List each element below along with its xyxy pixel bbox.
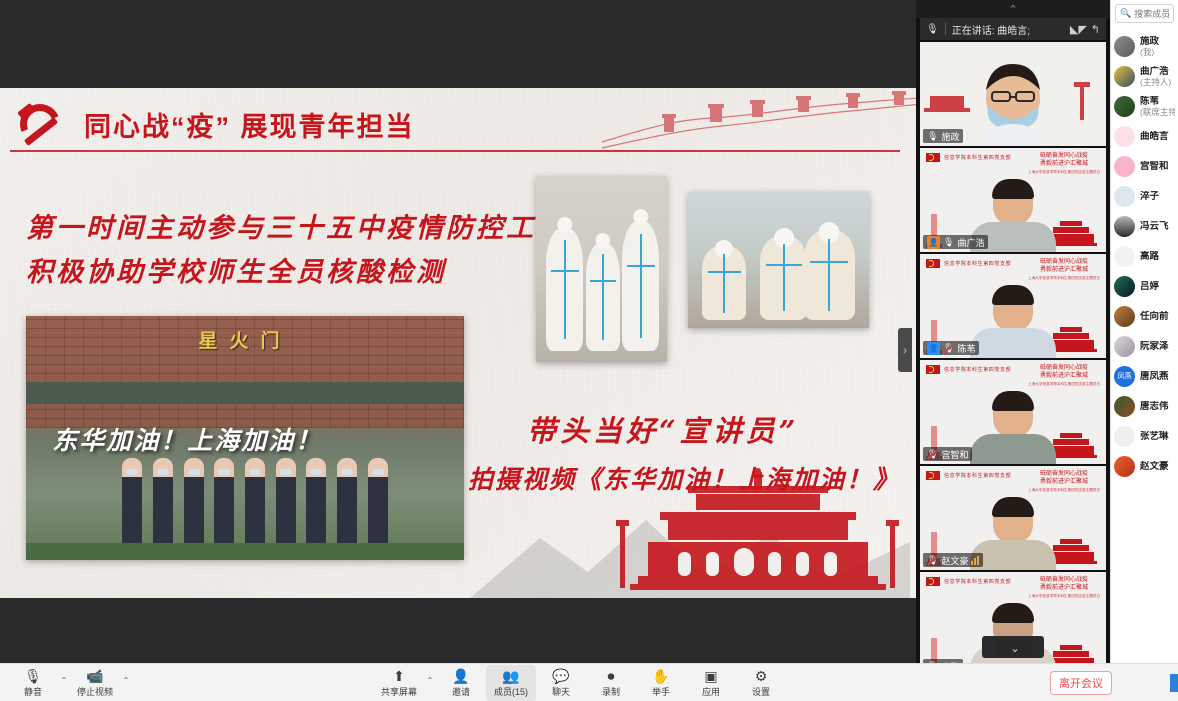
participant-name: 任向前 [1140, 311, 1169, 322]
tile-label: 👤 🎙 陈苇 [923, 341, 979, 355]
virtual-bg-slogan: 砥砺奋发同心战疫 勇毅前进沪汇聚城 上海大学信息学院本科生第四党支部主题党日 [1028, 364, 1100, 388]
raise-hand-label: 举手 [652, 685, 670, 698]
people-icon: 👥 [502, 668, 519, 684]
search-icon: 🔍 [1120, 8, 1131, 19]
chat-button[interactable]: 💬 聊天 [536, 665, 586, 701]
avatar [1114, 96, 1135, 117]
list-item[interactable]: 宫智和 [1111, 151, 1178, 181]
participant-role: (我) [1140, 47, 1159, 57]
avatar [1114, 396, 1135, 417]
party-flag-icon [925, 576, 941, 590]
avatar [1114, 246, 1135, 267]
search-input[interactable] [1134, 9, 1169, 19]
avatar [1114, 456, 1135, 477]
participant-role: (联席主持人) [1140, 107, 1175, 117]
participant-name: 高路 [1140, 251, 1159, 262]
window-accent-bar [1170, 674, 1178, 692]
leave-meeting-button[interactable]: 离开会议 [1050, 671, 1112, 695]
virtual-bg-banner: 信息学院本科生第四党支部 [944, 366, 1011, 373]
list-item[interactable]: 阮家泽 [1111, 331, 1178, 361]
microphone-muted-icon: 🎙 [927, 449, 938, 460]
invite-label: 邀请 [452, 685, 470, 698]
list-item[interactable]: 唐志伟 [1111, 391, 1178, 421]
video-tile[interactable]: 信息学院本科生第四党支部 砥砺奋发同心战疫 勇毅前进沪汇聚城 上海大学信息学院本… [920, 254, 1106, 358]
participants-label: 成员(15) [494, 685, 528, 698]
participant-name: 施政 [941, 130, 959, 143]
slide-line-2: 积极协助学校师生全员核酸检测 [26, 250, 446, 289]
slide-line-1: 第一时间主动参与三十五中疫情防控工作 [26, 206, 566, 245]
party-flag-icon [925, 470, 941, 484]
record-button[interactable]: ⏺ 录制 [586, 665, 636, 701]
gear-icon: ⚙ [755, 668, 768, 684]
virtual-bg-slogan: 砥砺奋发同心战疫 勇毅前进沪汇聚城 上海大学信息学院本科生第四党支部主题党日 [1028, 258, 1100, 282]
apps-label: 应用 [702, 685, 720, 698]
virtual-bg-banner: 信息学院本科生第四党支部 [944, 472, 1011, 479]
avatar [1114, 186, 1135, 207]
meeting-window: 同心战“疫” 展现青年担当 第一时间主动参与三十五中疫情防控工作 积极协助学校师… [0, 0, 1178, 701]
participant-silhouette [970, 393, 1056, 464]
share-screen-icon: ⬆ [393, 668, 405, 684]
settings-label: 设置 [752, 685, 770, 698]
participant-name: 宫智和 [941, 448, 968, 461]
participant-silhouette [970, 287, 1056, 358]
photo-ppe-indoor [536, 176, 667, 362]
list-item[interactable]: 冯云飞 [1111, 211, 1178, 241]
chat-bubble-icon: 💬 [552, 668, 569, 684]
list-item[interactable]: 吕婷 [1111, 271, 1178, 301]
participant-name: 曲广浩 [1140, 66, 1171, 77]
video-tile[interactable]: 信息学院本科生第四党支部 砥砺奋发同心战疫 勇毅前进沪汇聚城 上海大学信息学院本… [920, 148, 1106, 252]
microphone-icon: 🎙 [24, 668, 42, 684]
participant-name: 唐凤燕 [1140, 371, 1169, 382]
avatar [1114, 36, 1135, 57]
tile-label: 🎙 宫智和 [923, 447, 972, 461]
participant-name: 唐志伟 [1140, 401, 1169, 412]
invite-button[interactable]: 👤 邀请 [436, 665, 486, 701]
record-circle-icon: ⏺ [608, 668, 615, 684]
chat-label: 聊天 [552, 685, 570, 698]
raised-hand-icon: ✋ [652, 668, 669, 684]
slide-title-row: 同心战“疫” 展现青年担当 [18, 102, 415, 146]
audio-options-caret[interactable]: ⌃ [58, 665, 70, 701]
group-people [26, 458, 464, 546]
participants-panel[interactable]: 🔍 施政 (我) 曲广浩 (主持人) [1110, 0, 1178, 663]
record-label: 录制 [602, 685, 620, 698]
shared-screen-stage[interactable]: 同心战“疫” 展现青年担当 第一时间主动参与三十五中疫情防控工作 积极协助学校师… [0, 0, 916, 663]
active-speaker-text: 正在讲话: 曲皓言; [952, 22, 1030, 37]
list-item[interactable]: 任向前 [1111, 301, 1178, 331]
participant-name: 淬子 [1140, 191, 1159, 202]
participant-name: 阮家泽 [1140, 341, 1169, 352]
video-tile[interactable]: 🎙 施政 [920, 42, 1106, 146]
minimize-icon[interactable]: ◣◤ [1070, 23, 1087, 36]
share-screen-button[interactable]: ⬆ 共享屏幕 [374, 665, 424, 701]
slide-line-3: 带头当好“宣讲员” [527, 408, 799, 450]
list-item[interactable]: 赵文豪 [1111, 451, 1178, 481]
apps-grid-icon: ▣ [704, 668, 717, 684]
list-item[interactable]: 曲皓言 [1111, 121, 1178, 151]
filmstrip-window-controls[interactable]: ◣◤ ↰ [1070, 23, 1100, 36]
participant-name: 宫智和 [1140, 161, 1169, 172]
tile-label: 🎙 赵文豪 [923, 553, 983, 567]
avatar: 凤燕 [1114, 366, 1135, 387]
avatar [1114, 426, 1135, 447]
filmstrip-drag-handle[interactable]: ⌃ [916, 0, 1110, 18]
video-tile[interactable]: 信息学院本科生第四党支部 砥砺奋发同心战疫 勇毅前进沪汇聚城 上海大学信息学院本… [920, 466, 1106, 570]
host-badge: 👤 [927, 236, 940, 249]
avatar [1114, 156, 1135, 177]
microphone-icon: 🎙 [943, 237, 954, 248]
photo-group-at-gate: 星火门 东华加油！上海加油！ [26, 316, 464, 560]
participant-list[interactable]: 施政 (我) 曲广浩 (主持人) 陈苇 (联席主持人) [1111, 27, 1178, 481]
video-camera-icon: 📹 [86, 668, 103, 684]
tile-label: 👤 🎙 曲广浩 [923, 235, 988, 249]
virtual-bg-slogan: 砥砺奋发同心战疫 勇毅前进沪汇聚城 上海大学信息学院本科生第四党支部主题党日 [1028, 152, 1100, 176]
virtual-bg-banner: 信息学院本科生第四党支部 [944, 578, 1011, 585]
list-item[interactable]: 陈苇 (联席主持人) [1111, 91, 1178, 121]
microphone-icon: 🎙 [926, 24, 939, 35]
virtual-bg-slogan: 砥砺奋发同心战疫 勇毅前进沪汇聚城 上海大学信息学院本科生第四党支部主题党日 [1028, 576, 1100, 600]
photo-ppe-outdoor [688, 192, 869, 328]
toolbar-left-group[interactable]: 🎙 静音 ⌃ 📹 停止视频 ⌃ [8, 664, 132, 701]
person-plus-icon: 👤 [452, 668, 469, 684]
list-item[interactable]: 凤燕 唐凤燕 [1111, 361, 1178, 391]
participant-name: 曲皓言 [1140, 131, 1169, 142]
participant-name: 赵文豪 [1140, 461, 1169, 472]
scroll-down-button[interactable]: ⌄ [997, 640, 1033, 656]
participant-role: (主持人) [1140, 77, 1171, 87]
avatar [1114, 276, 1135, 297]
party-flag-icon [925, 258, 941, 272]
meeting-toolbar[interactable]: 🎙 静音 ⌃ 📹 停止视频 ⌃ ⬆ 共享屏幕 ⌃ 👤 邀请 👥 成员(1 [0, 663, 1178, 701]
virtual-bg-slogan: 砥砺奋发同心战疫 勇毅前进沪汇聚城 上海大学信息学院本科生第四党支部主题党日 [1028, 470, 1100, 494]
collapse-filmstrip-handle[interactable]: › [898, 328, 912, 372]
tiananmen-decoration [608, 468, 908, 598]
video-tile[interactable]: 信息学院本科生第四党支部 砥砺奋发同心战疫 勇毅前进沪汇聚城 上海大学信息学院本… [920, 360, 1106, 464]
share-options-caret[interactable]: ⌃ [424, 665, 436, 701]
audio-level-bars [971, 556, 979, 565]
party-flag-icon [925, 364, 941, 378]
avatar [1114, 336, 1135, 357]
participant-name: 陈苇 [1140, 96, 1175, 107]
list-item[interactable]: 施政 (我) [1111, 31, 1178, 61]
mute-label: 静音 [24, 685, 42, 698]
toolbar-center-group[interactable]: ⬆ 共享屏幕 ⌃ 👤 邀请 👥 成员(15) 💬 聊天 ⏺ 录制 ✋ [374, 664, 786, 701]
stop-video-label: 停止视频 [77, 685, 113, 698]
party-flag-icon [925, 152, 941, 166]
video-filmstrip[interactable]: ⌃ 🎙 正在讲话: 曲皓言; ◣◤ ↰ [916, 0, 1110, 663]
tile-label: 🎙 施政 [923, 129, 963, 143]
avatar [1114, 126, 1135, 147]
mute-button[interactable]: 🎙 静音 [8, 665, 58, 701]
presentation-slide[interactable]: 同心战“疫” 展现青年担当 第一时间主动参与三十五中疫情防控工作 积极协助学校师… [0, 88, 916, 598]
stop-video-button[interactable]: 📹 停止视频 [70, 665, 120, 701]
microphone-icon: 🎙 [927, 131, 938, 142]
list-item[interactable]: 淬子 [1111, 181, 1178, 211]
share-screen-label: 共享屏幕 [381, 685, 417, 698]
list-item[interactable]: 曲广浩 (主持人) [1111, 61, 1178, 91]
active-speaker-bar: 🎙 正在讲话: 曲皓言; ◣◤ ↰ [920, 18, 1106, 40]
list-item[interactable]: 张艺琳 [1111, 421, 1178, 451]
microphone-muted-icon: 🎙 [927, 555, 938, 566]
cpc-emblem-icon [18, 102, 66, 146]
avatar [1114, 216, 1135, 237]
settings-button[interactable]: ⚙ 设置 [736, 665, 786, 701]
raise-hand-button[interactable]: ✋ 举手 [636, 665, 686, 701]
virtual-bg-banner: 信息学院本科生第四党支部 [944, 260, 1011, 267]
participant-name: 张艺琳 [1140, 431, 1169, 442]
title-divider [10, 150, 900, 152]
list-item[interactable]: 高路 [1111, 241, 1178, 271]
video-options-caret[interactable]: ⌃ [120, 665, 132, 701]
great-wall-decoration [602, 90, 916, 154]
search-wrap: 🔍 [1111, 0, 1178, 27]
avatar [1114, 306, 1135, 327]
gate-sign-text: 星火门 [198, 326, 291, 353]
divider [945, 23, 946, 35]
virtual-bg-banner: 信息学院本科生第四党支部 [944, 154, 1011, 161]
participant-name: 陈苇 [957, 342, 975, 355]
slide-title: 同心战“疫” 展现青年担当 [84, 105, 415, 144]
photo-overlay-text: 东华加油！上海加油！ [52, 421, 322, 457]
microphone-muted-icon: 🎙 [943, 343, 954, 354]
restore-icon[interactable]: ↰ [1091, 23, 1100, 36]
participants-button[interactable]: 👥 成员(15) [486, 665, 536, 701]
cohost-badge: 👤 [927, 342, 940, 355]
participant-name: 冯云飞 [1140, 221, 1169, 232]
participant-name: 吕婷 [1140, 281, 1159, 292]
participant-name: 赵文豪 [941, 554, 968, 567]
participant-name: 曲广浩 [957, 236, 984, 249]
avatar [1114, 66, 1135, 87]
apps-button[interactable]: ▣ 应用 [686, 665, 736, 701]
participant-name: 施政 [1140, 36, 1159, 47]
search-box[interactable]: 🔍 [1115, 4, 1174, 23]
